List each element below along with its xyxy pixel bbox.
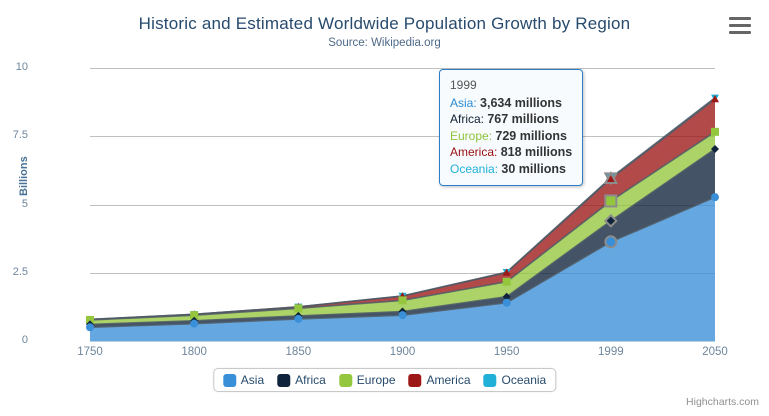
marker-asia[interactable] — [711, 193, 719, 201]
tooltip-series-value: 818 millions — [501, 145, 573, 159]
tooltip-series-value: 30 millions — [501, 162, 566, 176]
tooltip-series-name: Africa: — [450, 112, 487, 126]
y-axis-tick: 5 — [0, 198, 28, 210]
y-axis-tick: 10 — [0, 61, 28, 73]
legend[interactable]: AsiaAfricaEuropeAmericaOceania — [213, 368, 556, 392]
y-axis-tick: 7.5 — [0, 129, 28, 141]
hamburger-menu-icon[interactable] — [729, 17, 752, 37]
tooltip-series-name: America: — [450, 145, 501, 159]
tooltip-series-name: Europe: — [450, 129, 495, 143]
tooltip-header: 1999 — [450, 77, 572, 95]
legend-swatch — [339, 374, 352, 387]
marker-europe[interactable] — [294, 304, 302, 312]
marker-asia[interactable] — [294, 315, 302, 323]
plot-area — [90, 68, 715, 341]
series-plot — [90, 68, 715, 341]
x-axis-tick: 2050 — [680, 346, 750, 358]
hamburger-bar — [729, 17, 751, 20]
x-axis-tick: 1750 — [55, 346, 125, 358]
x-axis-tick: 1900 — [368, 346, 438, 358]
tooltip-row: Oceania: 30 millions — [450, 161, 572, 178]
marker-asia[interactable] — [190, 320, 198, 328]
tooltip-row: America: 818 millions — [450, 144, 572, 161]
y-axis-title: Billions — [18, 156, 30, 196]
y-axis-tick: 0 — [0, 334, 28, 346]
marker-asia[interactable] — [503, 299, 511, 307]
legend-label: Asia — [241, 373, 264, 387]
tooltip-rows: Asia: 3,634 millionsAfrica: 767 millions… — [450, 95, 572, 178]
legend-swatch — [484, 374, 497, 387]
tooltip: 1999 Asia: 3,634 millionsAfrica: 767 mil… — [439, 69, 583, 186]
marker-asia[interactable] — [399, 311, 407, 319]
hamburger-bar — [729, 24, 751, 27]
legend-label: Europe — [357, 373, 396, 387]
legend-item-oceania[interactable]: Oceania — [484, 373, 547, 387]
marker-europe[interactable] — [605, 195, 616, 206]
legend-swatch — [277, 374, 290, 387]
marker-asia[interactable] — [605, 236, 616, 247]
hamburger-bar — [729, 31, 751, 34]
marker-europe[interactable] — [399, 296, 407, 304]
legend-item-europe[interactable]: Europe — [339, 373, 396, 387]
legend-item-america[interactable]: America — [409, 373, 471, 387]
marker-europe[interactable] — [711, 128, 719, 136]
x-axis-tick: 1850 — [263, 346, 333, 358]
chart-subtitle: Source: Wikipedia.org — [0, 37, 769, 49]
legend-swatch — [409, 374, 422, 387]
x-axis-tick: 1800 — [159, 346, 229, 358]
tooltip-series-name: Asia: — [450, 96, 480, 110]
x-axis-tick: 1950 — [472, 346, 542, 358]
credits-link[interactable]: Highcharts.com — [686, 396, 759, 408]
legend-swatch — [223, 374, 236, 387]
tooltip-row: Europe: 729 millions — [450, 128, 572, 145]
tooltip-series-name: Oceania: — [450, 162, 501, 176]
legend-label: Oceania — [502, 373, 547, 387]
tooltip-series-value: 767 millions — [487, 112, 559, 126]
highcharts-container: Historic and Estimated Worldwide Populat… — [0, 0, 769, 416]
legend-item-africa[interactable]: Africa — [277, 373, 326, 387]
x-axis-tick: 1999 — [576, 346, 646, 358]
legend-label: America — [427, 373, 471, 387]
y-axis-tick: 2.5 — [0, 266, 28, 278]
tooltip-row: Africa: 767 millions — [450, 111, 572, 128]
x-axis-line — [90, 341, 715, 342]
tooltip-row: Asia: 3,634 millions — [450, 95, 572, 112]
tooltip-series-value: 729 millions — [495, 129, 567, 143]
tooltip-series-value: 3,634 millions — [480, 96, 562, 110]
marker-asia[interactable] — [86, 323, 94, 331]
legend-item-asia[interactable]: Asia — [223, 373, 264, 387]
legend-label: Africa — [295, 373, 326, 387]
chart-title: Historic and Estimated Worldwide Populat… — [0, 14, 769, 34]
marker-europe[interactable] — [503, 278, 511, 286]
